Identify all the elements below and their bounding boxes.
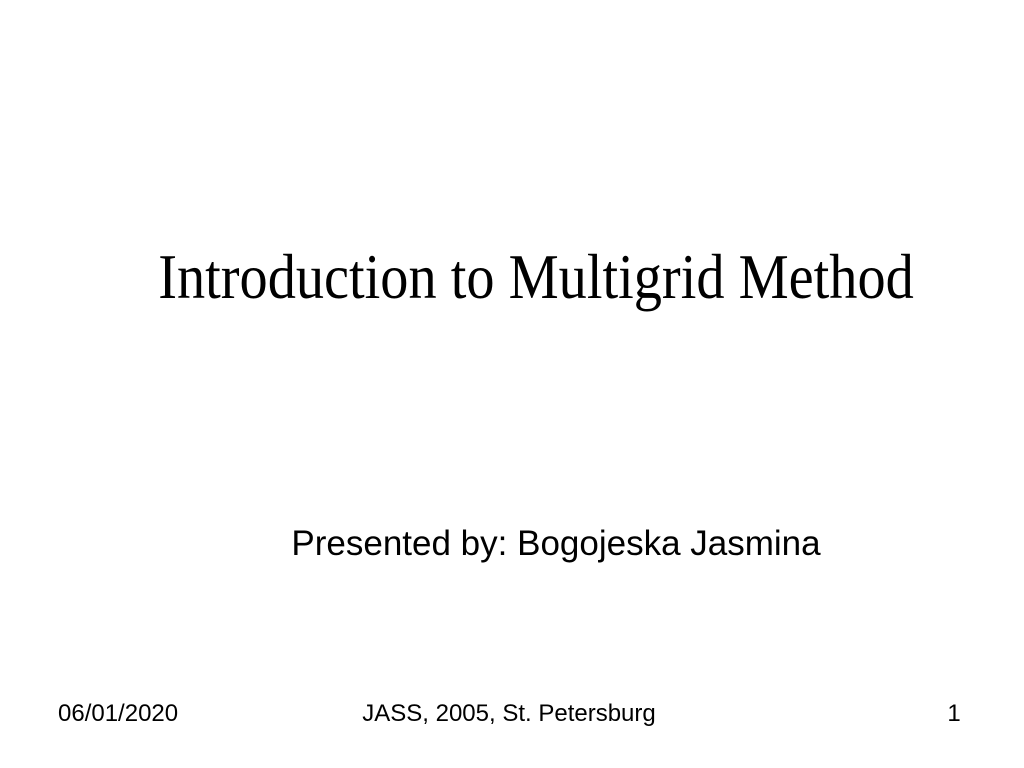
title-block: Introduction to Multigrid Method <box>72 240 1000 314</box>
page-title: Introduction to Multigrid Method <box>128 240 945 314</box>
footer-event: JASS, 2005, St. Petersburg <box>0 700 1018 728</box>
subtitle-block: Presented by: Bogojeska Jasmina <box>92 524 1020 564</box>
slide-footer: 06/01/2020 JASS, 2005, St. Petersburg 1 <box>0 700 1024 732</box>
footer-page-number: 1 <box>942 700 966 728</box>
presentation-slide: Introduction to Multigrid Method Present… <box>0 0 1024 768</box>
presenter-subtitle: Presented by: Bogojeska Jasmina <box>92 524 1020 564</box>
